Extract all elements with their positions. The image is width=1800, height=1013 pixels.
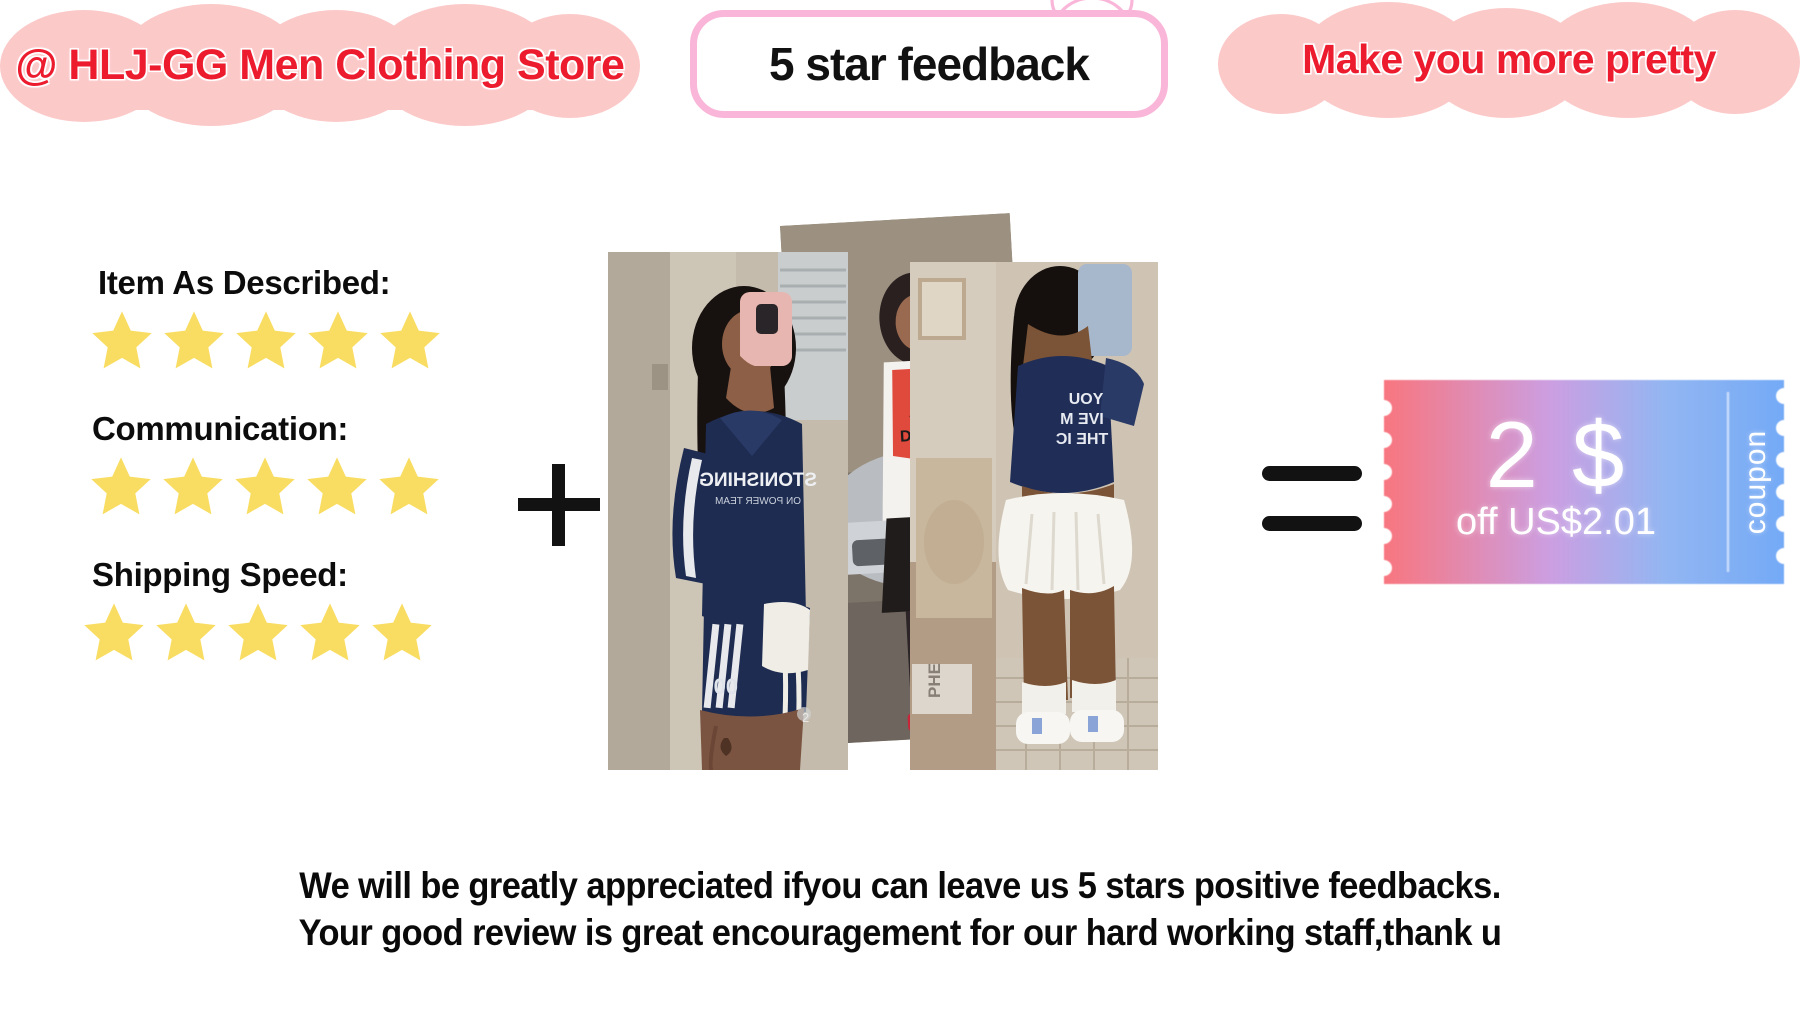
- svg-text:PHE: PHE: [925, 663, 944, 698]
- star-icon: [152, 599, 220, 665]
- promo-banner-canvas: @ HLJ-GG Men Clothing Store: [0, 0, 1800, 1013]
- store-name-text: @ HLJ-GG Men Clothing Store: [16, 41, 625, 90]
- star-icon: [87, 453, 155, 519]
- equals-operator-icon: [1262, 460, 1362, 540]
- star-rating-row: [80, 599, 436, 665]
- rating-label: Item As Described:: [98, 264, 444, 302]
- discount-coupon[interactable]: 2 $ off US$2.01 coupon: [1376, 380, 1792, 584]
- rating-label: Communication:: [92, 410, 443, 448]
- plus-operator-icon: [518, 462, 600, 548]
- rating-shipping-speed: Shipping Speed:: [92, 556, 436, 665]
- rating-communication: Communication:: [92, 410, 443, 519]
- star-icon: [368, 599, 436, 665]
- star-icon: [232, 307, 300, 373]
- star-rating-row: [88, 307, 444, 373]
- svg-text:2: 2: [802, 710, 809, 725]
- star-icon: [88, 307, 156, 373]
- feedback-request-text: We will be greatly appreciated ifyou can…: [0, 862, 1800, 957]
- star-icon: [375, 453, 443, 519]
- customer-photo-collage: AR DREA: [600, 228, 1260, 773]
- star-icon: [159, 453, 227, 519]
- rating-item-as-described: Item As Described:: [98, 264, 444, 373]
- star-icon: [160, 307, 228, 373]
- speech-bubble: 5 star feedback: [690, 10, 1168, 118]
- star-icon: [80, 599, 148, 665]
- svg-text:THE IC: THE IC: [1055, 431, 1108, 448]
- customer-photo: YOU IVE M THE IC PHE: [910, 262, 1158, 770]
- svg-text:ON POWER TEAM: ON POWER TEAM: [715, 496, 801, 507]
- svg-text:IVE M: IVE M: [1060, 411, 1104, 428]
- star-icon: [303, 453, 371, 519]
- star-icon: [224, 599, 292, 665]
- tagline-text: Make you more pretty: [1302, 36, 1716, 83]
- svg-text:STONISHING: STONISHING: [699, 470, 817, 491]
- svg-text:00: 00: [714, 674, 738, 699]
- svg-text:YOU: YOU: [1069, 391, 1104, 408]
- store-name-banner: @ HLJ-GG Men Clothing Store: [0, 4, 640, 126]
- tagline-banner: Make you more pretty: [1218, 0, 1800, 118]
- star-icon: [296, 599, 364, 665]
- speech-bubble-text: 5 star feedback: [769, 37, 1089, 91]
- footer-line-2: Your good review is great encouragement …: [63, 909, 1737, 956]
- rating-label: Shipping Speed:: [92, 556, 436, 594]
- coupon-ticket-shape: [1376, 380, 1792, 584]
- five-star-feedback-callout: 5 star feedback: [680, 2, 1180, 150]
- footer-line-1: We will be greatly appreciated ifyou can…: [63, 862, 1737, 909]
- star-icon: [304, 307, 372, 373]
- customer-photo: STONISHING ON POWER TEAM 00 2: [608, 252, 848, 770]
- star-icon: [376, 307, 444, 373]
- star-rating-row: [87, 453, 443, 519]
- star-icon: [231, 453, 299, 519]
